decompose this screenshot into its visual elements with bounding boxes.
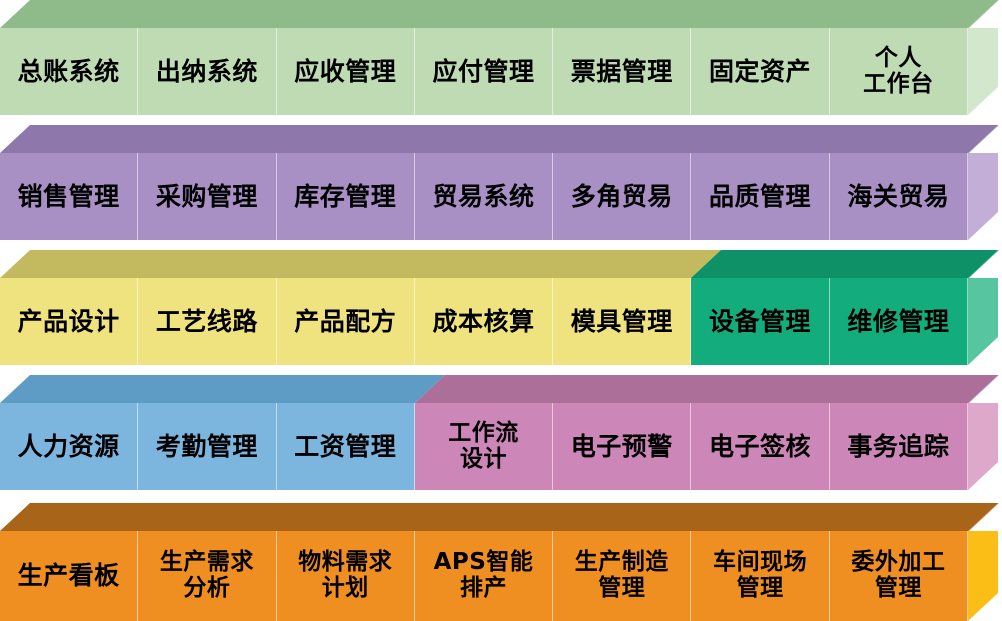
module-label: 产品配方 bbox=[291, 308, 399, 336]
module-label: 多角贸易 bbox=[568, 183, 676, 211]
module-box[interactable]: 品质管理 bbox=[691, 153, 829, 240]
module-box[interactable]: 海关贸易 bbox=[830, 153, 968, 240]
module-box[interactable]: 贸易系统 bbox=[415, 153, 553, 240]
module-label: 事务追踪 bbox=[844, 433, 952, 461]
module-label: 采购管理 bbox=[153, 183, 261, 211]
module-label: 物料需求 计划 bbox=[295, 550, 395, 602]
module-label: 设备管理 bbox=[706, 308, 814, 336]
module-label: 电子签核 bbox=[706, 433, 814, 461]
box-side-face bbox=[968, 153, 998, 240]
module-label: 总账系统 bbox=[15, 58, 123, 86]
module-label: 生产需求 分析 bbox=[157, 550, 257, 602]
module-box[interactable]: 工资管理 bbox=[277, 403, 415, 490]
module-box[interactable]: 销售管理 bbox=[0, 153, 138, 240]
erp-module-diagram: 总账系统出纳系统应收管理应付管理票据管理固定资产个人 工作台销售管理采购管理库存… bbox=[0, 0, 1002, 621]
module-label: 维修管理 bbox=[844, 308, 952, 336]
module-label: APS智能 排产 bbox=[431, 550, 537, 602]
module-label: 海关贸易 bbox=[844, 183, 952, 211]
module-box[interactable]: 工艺线路 bbox=[138, 278, 276, 365]
module-box[interactable]: 个人 工作台 bbox=[830, 28, 968, 115]
module-box[interactable]: 模具管理 bbox=[553, 278, 691, 365]
module-label: 车间现场 管理 bbox=[710, 550, 810, 602]
module-label: 生产看板 bbox=[15, 562, 123, 590]
module-box[interactable]: 固定资产 bbox=[691, 28, 829, 115]
module-box[interactable]: 成本核算 bbox=[415, 278, 553, 365]
box-top-face bbox=[0, 375, 445, 403]
module-label: 生产制造 管理 bbox=[572, 550, 672, 602]
module-box[interactable]: 生产制造 管理 bbox=[553, 531, 691, 621]
module-label: 工作流 设计 bbox=[445, 421, 522, 473]
box-top-face bbox=[0, 125, 999, 153]
module-label: 出纳系统 bbox=[153, 58, 261, 86]
module-label: 模具管理 bbox=[568, 308, 676, 336]
module-label: 电子预警 bbox=[568, 433, 676, 461]
box-side-face bbox=[968, 278, 998, 365]
module-box[interactable]: 事务追踪 bbox=[830, 403, 968, 490]
module-label: 考勤管理 bbox=[153, 433, 261, 461]
module-box[interactable]: APS智能 排产 bbox=[415, 531, 553, 621]
module-box[interactable]: 工作流 设计 bbox=[415, 403, 553, 490]
module-row-hr-workflow: 人力资源考勤管理工资管理工作流 设计电子预警电子签核事务追踪 bbox=[0, 375, 1002, 490]
box-side-face bbox=[968, 403, 998, 490]
module-box[interactable]: 电子签核 bbox=[691, 403, 829, 490]
module-box[interactable]: 票据管理 bbox=[553, 28, 691, 115]
box-top-face bbox=[691, 250, 999, 278]
module-box[interactable]: 应收管理 bbox=[277, 28, 415, 115]
module-box[interactable]: 生产需求 分析 bbox=[138, 531, 276, 621]
box-side-face bbox=[968, 28, 998, 115]
module-box[interactable]: 车间现场 管理 bbox=[691, 531, 829, 621]
module-box[interactable]: 设备管理 bbox=[691, 278, 829, 365]
box-side-face bbox=[968, 531, 998, 621]
module-box[interactable]: 出纳系统 bbox=[138, 28, 276, 115]
box-top-face bbox=[0, 250, 721, 278]
module-box[interactable]: 考勤管理 bbox=[138, 403, 276, 490]
module-label: 固定资产 bbox=[706, 58, 814, 86]
module-label: 工艺线路 bbox=[153, 308, 261, 336]
module-label: 库存管理 bbox=[291, 183, 399, 211]
module-box[interactable]: 库存管理 bbox=[277, 153, 415, 240]
module-label: 票据管理 bbox=[568, 58, 676, 86]
module-label: 成本核算 bbox=[429, 308, 537, 336]
module-label: 品质管理 bbox=[706, 183, 814, 211]
module-box[interactable]: 采购管理 bbox=[138, 153, 276, 240]
module-box[interactable]: 总账系统 bbox=[0, 28, 138, 115]
module-row-manufacturing: 生产看板生产需求 分析物料需求 计划APS智能 排产生产制造 管理车间现场 管理… bbox=[0, 503, 1002, 621]
module-row-distribution: 销售管理采购管理库存管理贸易系统多角贸易品质管理海关贸易 bbox=[0, 125, 1002, 240]
module-label: 工资管理 bbox=[291, 433, 399, 461]
module-label: 产品设计 bbox=[15, 308, 123, 336]
module-box[interactable]: 电子预警 bbox=[553, 403, 691, 490]
module-box[interactable]: 产品设计 bbox=[0, 278, 138, 365]
module-label: 应付管理 bbox=[429, 58, 537, 86]
module-box[interactable]: 产品配方 bbox=[277, 278, 415, 365]
module-row-engineering: 产品设计工艺线路产品配方成本核算模具管理设备管理维修管理 bbox=[0, 250, 1002, 365]
module-label: 人力资源 bbox=[15, 433, 123, 461]
module-label: 贸易系统 bbox=[429, 183, 537, 211]
box-top-face bbox=[0, 0, 999, 28]
module-box[interactable]: 人力资源 bbox=[0, 403, 138, 490]
box-top-face bbox=[415, 375, 999, 403]
module-box[interactable]: 委外加工 管理 bbox=[830, 531, 968, 621]
module-label: 应收管理 bbox=[291, 58, 399, 86]
box-top-face bbox=[0, 503, 999, 531]
module-label: 个人 工作台 bbox=[860, 46, 937, 98]
module-label: 委外加工 管理 bbox=[848, 550, 948, 602]
module-box[interactable]: 维修管理 bbox=[830, 278, 968, 365]
module-box[interactable]: 生产看板 bbox=[0, 531, 138, 621]
module-box[interactable]: 多角贸易 bbox=[553, 153, 691, 240]
module-label: 销售管理 bbox=[15, 183, 123, 211]
module-row-finance: 总账系统出纳系统应收管理应付管理票据管理固定资产个人 工作台 bbox=[0, 0, 1002, 115]
module-box[interactable]: 应付管理 bbox=[415, 28, 553, 115]
module-box[interactable]: 物料需求 计划 bbox=[277, 531, 415, 621]
